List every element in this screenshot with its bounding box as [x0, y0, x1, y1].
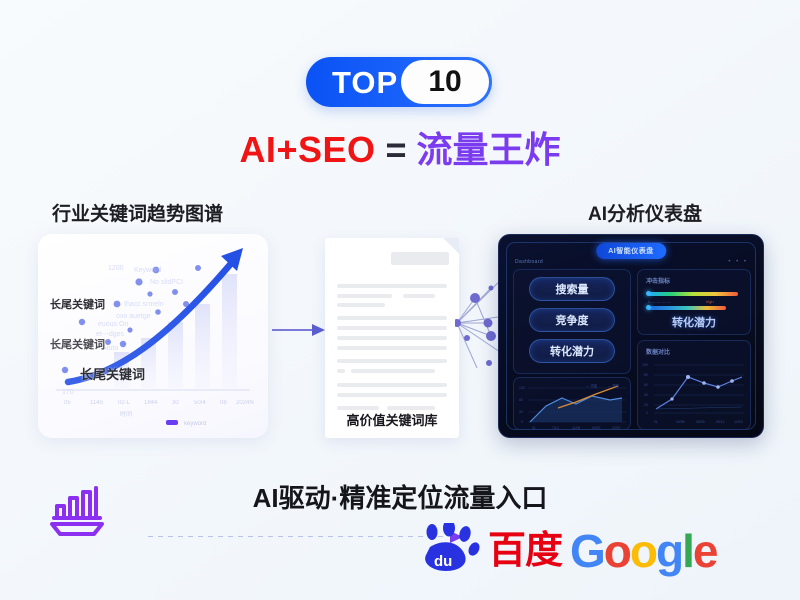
bottom-headline: AI驱动·精准定位流量入口: [0, 478, 800, 515]
svg-text:thacc srmeln: thacc srmeln: [124, 301, 164, 308]
svg-text:01: 01: [654, 420, 658, 424]
google-letter: e: [693, 525, 717, 577]
keyword-library-document: 高价值关键词库: [325, 238, 459, 438]
dashboard-title-badge: AI智能仪表盘: [596, 243, 666, 259]
svg-text:30: 30: [172, 400, 179, 406]
doc-text-line: [351, 369, 435, 373]
doc-text-line: [337, 326, 447, 330]
svg-text:08: 08: [220, 400, 227, 406]
infographic-canvas: TOP 10 AI+SEO=流量王炸 行业关键词趋势图谱 AI分析仪表盘: [0, 0, 800, 600]
svg-text:du: du: [434, 553, 452, 570]
svg-text:11/06: 11/06: [572, 426, 580, 430]
keyword-trend-card: KeywordNo slidPCI thacc srmelnovo auetge…: [38, 234, 268, 438]
google-letter: o: [630, 525, 656, 577]
svg-text:euous On: euous On: [98, 321, 128, 328]
long-tail-keyword-label-1: 长尾关键词: [50, 296, 105, 312]
svg-text:03/06: 03/06: [676, 420, 685, 424]
svg-text:0: 0: [521, 420, 523, 424]
svg-text:09/12: 09/12: [716, 420, 725, 424]
svg-text:— 预测: — 预测: [608, 383, 620, 388]
svg-text:40: 40: [644, 393, 648, 397]
svg-text:— 流量: — 流量: [586, 383, 598, 388]
section-heading-left: 行业关键词趋势图谱: [52, 199, 223, 226]
doc-text-line: [337, 303, 385, 307]
gauge-overlay-label: 转化潜力: [638, 314, 750, 330]
svg-text:2024N: 2024N: [236, 400, 254, 406]
doc-text-line: [337, 336, 447, 340]
svg-text:7/14: 7/14: [552, 426, 559, 430]
svg-text:12/15: 12/15: [734, 420, 743, 424]
long-tail-keyword-label-3: 长尾关键词: [80, 364, 145, 383]
svg-text:时间: 时间: [120, 410, 132, 418]
doc-text-line: [337, 294, 392, 298]
gauge-marker-icon: [646, 305, 651, 310]
dashboard-subtitle: Dashboard: [515, 259, 543, 265]
gauge-tick: 0 — — — —: [648, 299, 671, 304]
svg-text:60: 60: [519, 398, 523, 402]
gauge-marker-icon: [646, 291, 651, 296]
svg-text:06/09: 06/09: [696, 420, 705, 424]
search-engine-logos: du 百度 Google: [418, 523, 717, 578]
top-number-pill: 10: [401, 60, 489, 104]
svg-text:0: 0: [646, 411, 648, 415]
google-letter: G: [570, 525, 604, 577]
top-rank-badge: TOP 10: [306, 57, 492, 107]
svg-text:Keyword: Keyword: [134, 267, 161, 274]
title-equals: =: [386, 129, 407, 170]
traffic-area-chart-panel: 10060300 017/1411/06 04/0712/07 — 流量— 预测: [513, 377, 631, 430]
svg-text:20: 20: [644, 403, 648, 407]
svg-text:02-L: 02-L: [118, 400, 131, 406]
svg-text:No slidPCI: No slidPCI: [150, 279, 183, 286]
metric-button-search-volume[interactable]: 搜索量: [529, 277, 615, 301]
ai-dashboard-panel: AI智能仪表盘 Dashboard • • • 搜索量 竞争度 转化潜力 100…: [498, 234, 764, 438]
svg-text:ovo auetge: ovo auetge: [116, 313, 151, 320]
google-letter: g: [656, 525, 682, 577]
top-label: TOP: [332, 67, 398, 98]
metrics-panel: 搜索量 竞争度 转化潜力: [513, 269, 631, 374]
google-wordmark: Google: [570, 528, 716, 574]
doc-text-line: [403, 294, 435, 298]
top-number: 10: [428, 67, 461, 97]
baidu-wordmark: 百度: [488, 532, 562, 570]
doc-text-line: [337, 359, 447, 363]
svg-text:100: 100: [642, 363, 648, 367]
gauge-tick-high: high: [706, 299, 714, 304]
dashboard-menu-icon[interactable]: • • •: [728, 259, 748, 265]
svg-text:1844: 1844: [144, 400, 158, 406]
comparison-trend-panel: 数据对比 1008060 40200 0103/0606/09: [637, 340, 751, 430]
google-letter: o: [604, 525, 630, 577]
gauge-bar-secondary: [648, 306, 726, 310]
google-letter: l: [682, 525, 693, 577]
svg-text:1145: 1145: [90, 400, 104, 406]
title-right: 流量王炸: [417, 129, 561, 170]
gauge-bar-primary: [648, 292, 738, 296]
svg-text:30: 30: [519, 410, 523, 414]
section-heading-right: AI分析仪表盘: [588, 199, 702, 226]
doc-text-line: [337, 393, 447, 397]
svg-text:100: 100: [519, 386, 525, 390]
svg-text:12/07: 12/07: [612, 426, 621, 430]
doc-header-block: [391, 252, 449, 265]
flow-arrow-icon: [272, 322, 326, 343]
svg-text:01: 01: [532, 426, 536, 430]
svg-text:80: 80: [644, 373, 648, 377]
flow-dashed-line: [148, 536, 448, 537]
doc-text-line: [337, 284, 447, 288]
document-caption: 高价值关键词库: [325, 410, 459, 429]
impact-gauge-panel: 冲击指标 0 — — — — high 转化潜力: [637, 269, 751, 335]
svg-text:keyword: keyword: [184, 421, 206, 427]
doc-text-line: [337, 346, 447, 350]
doc-text-line: [337, 383, 447, 387]
page-title: AI+SEO=流量王炸: [0, 128, 800, 171]
doc-text-line: [337, 316, 447, 320]
gauge-panel-title: 冲击指标: [646, 276, 670, 285]
svg-text:04/07: 04/07: [592, 426, 601, 430]
metric-button-competition[interactable]: 竞争度: [529, 308, 615, 332]
svg-text:50/4: 50/4: [194, 400, 206, 406]
baidu-paw-icon: du: [418, 523, 480, 578]
svg-text:60: 60: [644, 383, 648, 387]
svg-text:1200: 1200: [108, 265, 124, 272]
doc-bullet: [337, 369, 345, 373]
long-tail-keyword-label-2: 长尾关键词: [50, 336, 105, 352]
title-left: AI+SEO: [239, 129, 375, 170]
metric-button-conversion[interactable]: 转化潜力: [529, 339, 615, 363]
svg-text:05: 05: [64, 400, 71, 406]
